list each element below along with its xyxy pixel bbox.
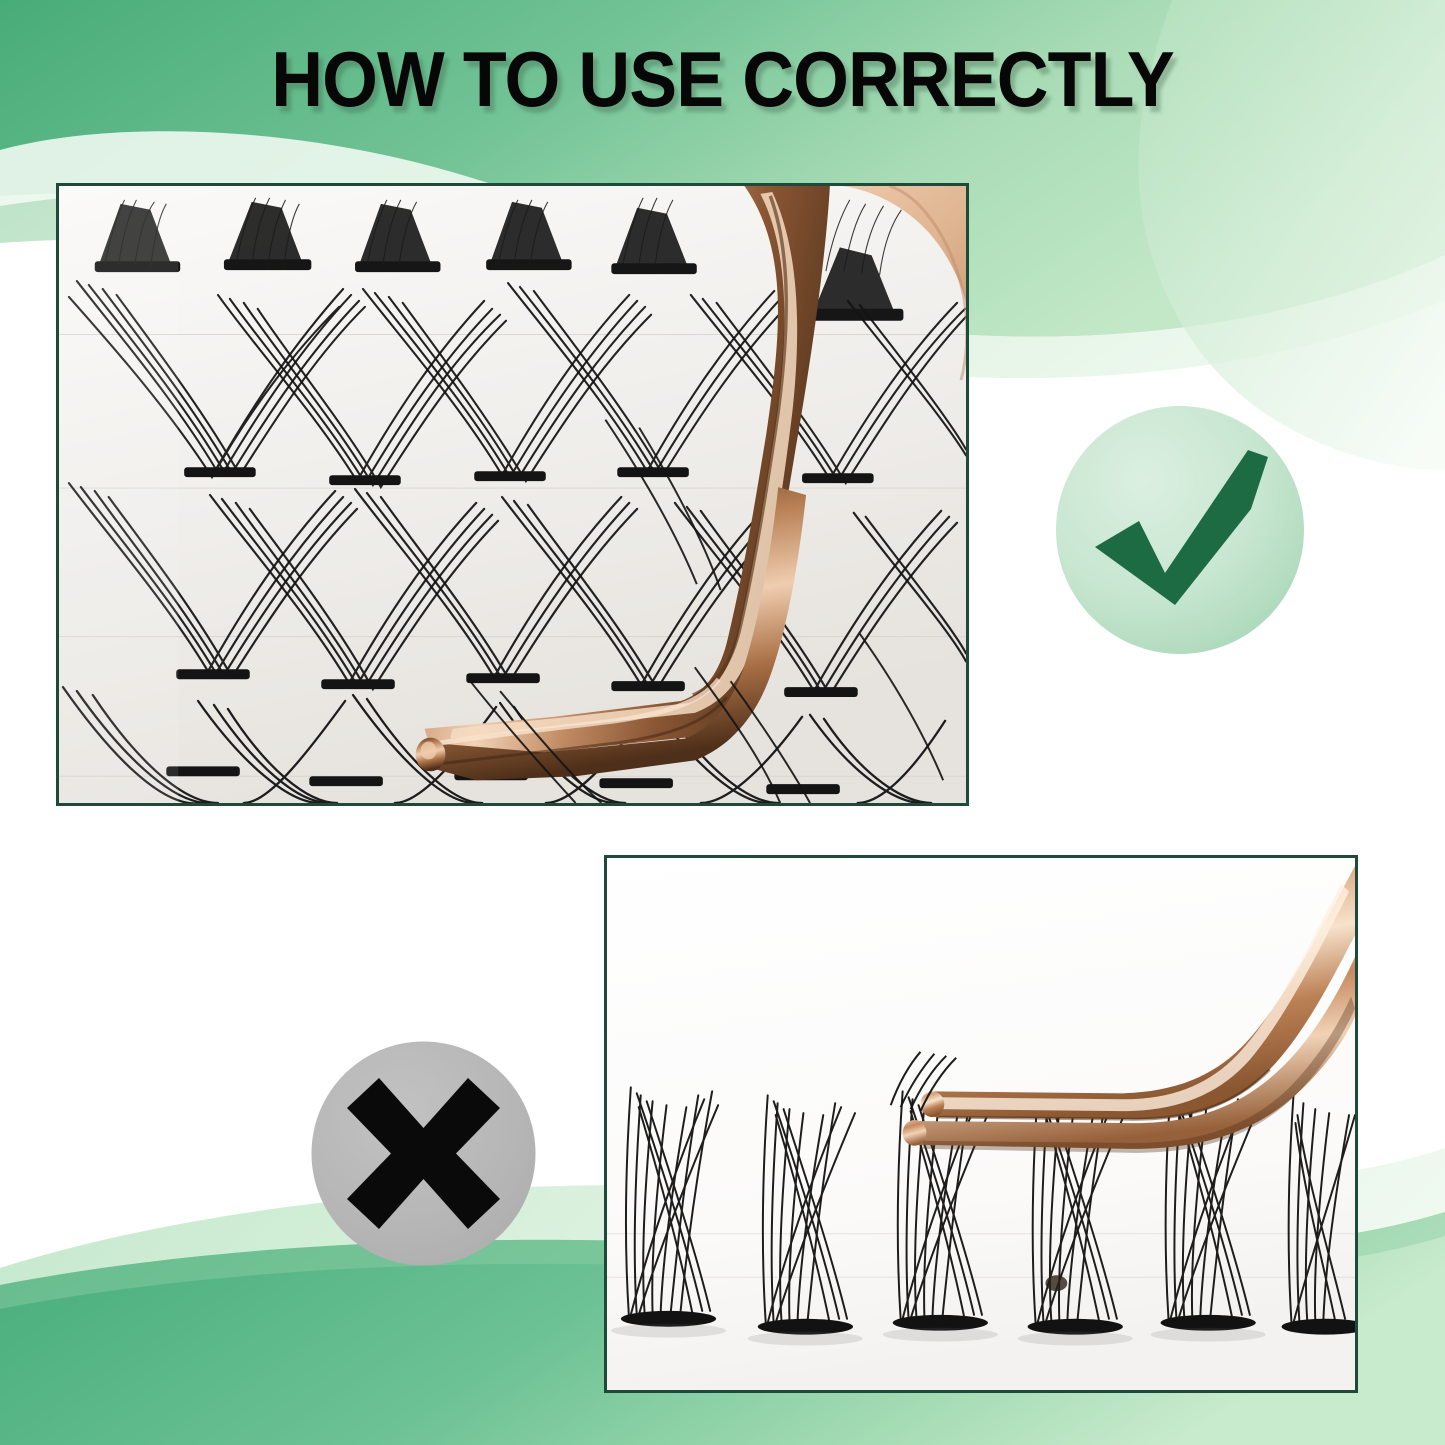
- cross-icon: [310, 1040, 537, 1267]
- glue-residue-detail: [1045, 1275, 1067, 1291]
- badge-correct: [1055, 405, 1305, 655]
- page-title: HOW TO USE CORRECTLY: [271, 42, 1174, 116]
- page-title-container: HOW TO USE CORRECTLY: [0, 42, 1445, 116]
- infographic-root: HOW TO USE CORRECTLY: [0, 0, 1445, 1445]
- badge-wrong: [310, 1040, 537, 1267]
- check-icon: [1055, 405, 1305, 655]
- photo-correct-usage: [56, 183, 969, 806]
- lash-tray-side-grab-photo: [607, 858, 1355, 1390]
- photo-incorrect-usage: [604, 855, 1358, 1393]
- lash-tray-top-grab-photo: [59, 186, 966, 803]
